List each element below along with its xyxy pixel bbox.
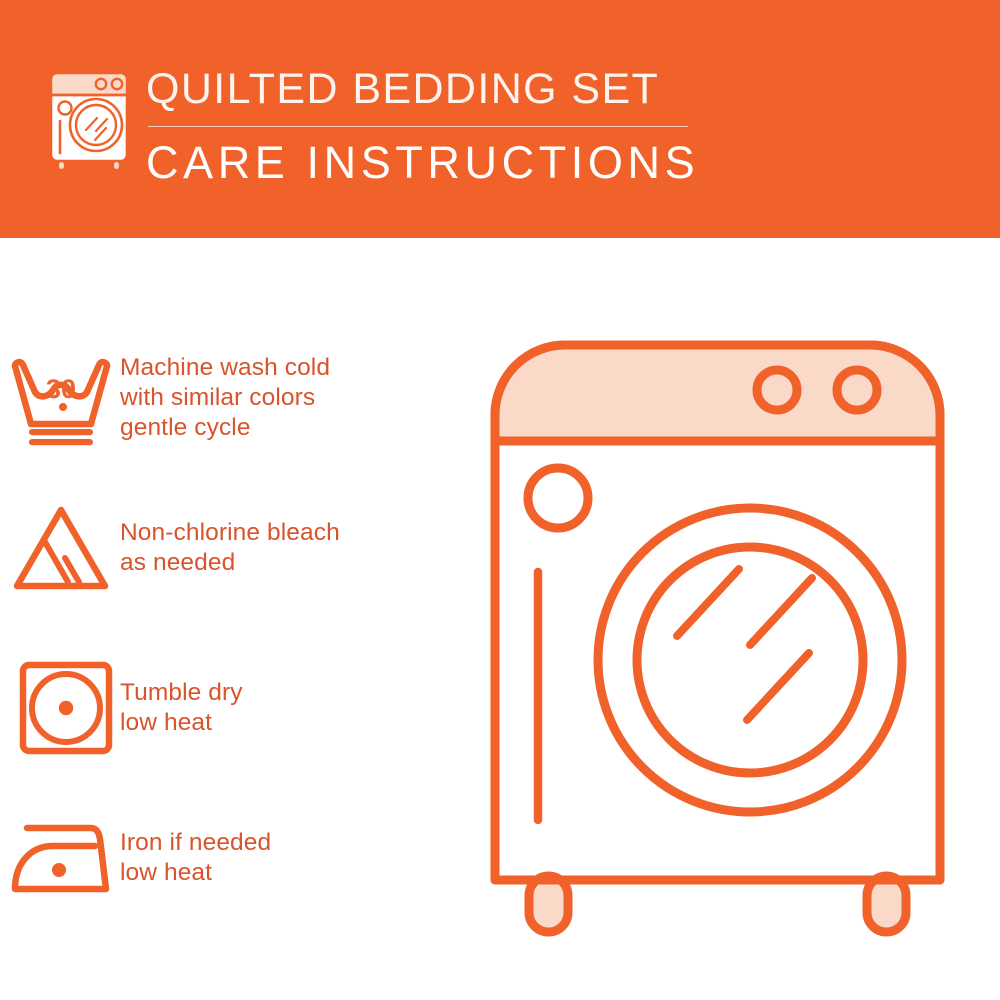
page-subtitle: CARE INSTRUCTIONS bbox=[146, 137, 706, 189]
header-banner: QUILTED BEDDING SET CARE INSTRUCTIONS bbox=[0, 0, 1000, 238]
washing-machine-icon bbox=[44, 68, 140, 172]
care-row-machine-wash: 30 Machine wash cold with similar colors… bbox=[0, 348, 480, 448]
tumble-dry-low-icon bbox=[0, 658, 120, 758]
title-divider bbox=[148, 126, 688, 127]
care-text-machine-wash: Machine wash cold with similar colors ge… bbox=[120, 353, 330, 443]
care-text-tumble-dry: Tumble dry low heat bbox=[120, 678, 243, 738]
knob-left bbox=[757, 370, 797, 410]
care-instruction-list: 30 Machine wash cold with similar colors… bbox=[0, 238, 480, 1000]
knob-right bbox=[837, 370, 877, 410]
page-title: QUILTED BEDDING SET bbox=[146, 64, 706, 114]
care-text-iron: Iron if needed low heat bbox=[120, 828, 271, 888]
care-row-iron: Iron if needed low heat bbox=[0, 808, 480, 908]
care-text-bleach: Non-chlorine bleach as needed bbox=[120, 518, 340, 578]
machine-wash-30-icon: 30 bbox=[0, 348, 120, 448]
care-row-tumble-dry: Tumble dry low heat bbox=[0, 658, 480, 758]
iron-low-heat-icon bbox=[0, 808, 120, 908]
detergent-dial bbox=[528, 468, 588, 528]
non-chlorine-bleach-triangle-icon bbox=[0, 498, 120, 598]
door-inner-ring bbox=[637, 547, 863, 773]
washing-machine-illustration bbox=[485, 320, 995, 940]
wash-temperature-value: 30 bbox=[46, 374, 76, 404]
care-row-bleach: Non-chlorine bleach as needed bbox=[0, 498, 480, 598]
header-title-group: QUILTED BEDDING SET CARE INSTRUCTIONS bbox=[146, 64, 706, 189]
care-instructions-page: QUILTED BEDDING SET CARE INSTRUCTIONS 30 bbox=[0, 0, 1000, 1000]
